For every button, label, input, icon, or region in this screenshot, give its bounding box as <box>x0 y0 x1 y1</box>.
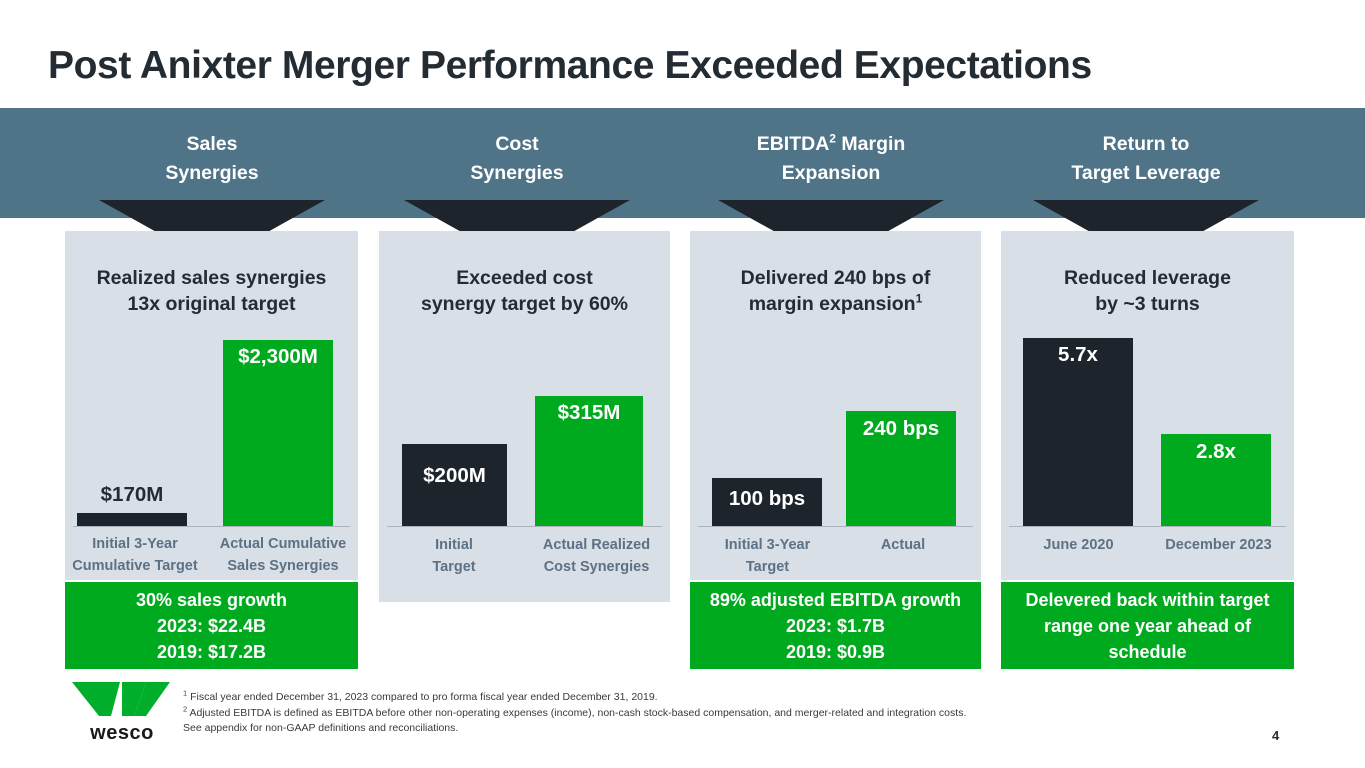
footnote-2: 2 Adjusted EBITDA is defined as EBITDA b… <box>183 706 1083 722</box>
band-col-2-line1: Cost <box>402 130 632 159</box>
footnote-1-text: Fiscal year ended December 31, 2023 comp… <box>187 691 657 703</box>
chart-3-bar-value-1: 100 bps <box>712 487 822 511</box>
callout-sales-growth: 30% sales growth 2023: $22.4B 2019: $17.… <box>65 582 358 669</box>
band-column-return-to-target-leverage: Return to Target Leverage <box>1031 130 1261 188</box>
chart-2-bar-value-1: $200M <box>402 464 507 488</box>
band-col-1-line1: Sales <box>97 130 327 159</box>
chart-1-cat2-line1: Actual Cumulative <box>213 533 353 555</box>
chart-4-category-label-1: June 2020 <box>1011 534 1146 556</box>
footnote-2-text: Adjusted EBITDA is defined as EBITDA bef… <box>187 707 966 719</box>
chart-2-cat2-line1: Actual Realized <box>524 534 669 556</box>
chart-4-axis-line <box>1009 526 1286 527</box>
callout-4-line2: range one year ahead of <box>1009 613 1286 639</box>
panel-3-heading: Delivered 240 bps of margin expansion1 <box>690 265 981 317</box>
callout-1-line3: 2019: $17.2B <box>73 639 350 665</box>
chart-1-axis-line <box>73 526 350 527</box>
chart-3-category-label-1: Initial 3-Year Target <box>695 534 840 578</box>
chart-1-bar-value-2: $2,300M <box>223 345 333 369</box>
chart-2-cat1-line2: Target <box>384 556 524 578</box>
footnote-3: See appendix for non-GAAP definitions an… <box>183 721 1083 737</box>
chart-4-cat1-line1: June 2020 <box>1011 534 1146 556</box>
wesco-w-mark-icon <box>70 680 174 720</box>
callout-4-line3: schedule <box>1009 639 1286 665</box>
panel-1-heading-line2: 13x original target <box>65 291 358 317</box>
chart-1-cat1-line2: Cumulative Target <box>65 555 205 577</box>
band-col-2-line2: Synergies <box>402 159 632 188</box>
chart-2-category-label-2: Actual Realized Cost Synergies <box>524 534 669 578</box>
chart-3-cat1-line1: Initial 3-Year <box>695 534 840 556</box>
panel-return-to-target-leverage: Reduced leverage by ~3 turns 5.7x 2.8x J… <box>1001 231 1294 580</box>
callout-3-line2: 2023: $1.7B <box>698 613 973 639</box>
chart-3-cat1-line2: Target <box>695 556 840 578</box>
chart-sales-synergies: $170M $2,300M Initial 3-Year Cumulative … <box>65 331 358 581</box>
callout-1-line2: 2023: $22.4B <box>73 613 350 639</box>
band-column-cost-synergies: Cost Synergies <box>402 130 632 188</box>
band-col-3-line2: Expansion <box>716 159 946 188</box>
panel-3-heading-line1: Delivered 240 bps of <box>690 265 981 291</box>
band-col-3-word: EBITDA <box>757 133 830 155</box>
panel-1-heading: Realized sales synergies 13x original ta… <box>65 265 358 317</box>
callout-deleverage: Delevered back within target range one y… <box>1001 582 1294 669</box>
panel-1-heading-line1: Realized sales synergies <box>65 265 358 291</box>
chart-3-axis-line <box>698 526 973 527</box>
panel-4-heading-line1: Reduced leverage <box>1001 265 1294 291</box>
slide-root: Post Anixter Merger Performance Exceeded… <box>0 0 1365 768</box>
footnotes: 1 Fiscal year ended December 31, 2023 co… <box>183 690 1083 737</box>
wesco-logo: wesco <box>70 680 174 745</box>
panel-sales-synergies: Realized sales synergies 13x original ta… <box>65 231 358 580</box>
page-title: Post Anixter Merger Performance Exceeded… <box>48 44 1092 88</box>
chart-1-bar-value-1: $170M <box>77 483 187 507</box>
chart-2-bar-value-2: $315M <box>535 401 643 425</box>
panel-4-heading-line2: by ~3 turns <box>1001 291 1294 317</box>
callout-1-line1: 30% sales growth <box>73 587 350 613</box>
panel-ebitda-margin-expansion: Delivered 240 bps of margin expansion1 1… <box>690 231 981 580</box>
panel-2-heading-line2: synergy target by 60% <box>379 291 670 317</box>
chart-1-cat2-line2: Sales Synergies <box>213 555 353 577</box>
band-col-3-line1: EBITDA2 Margin <box>716 130 946 159</box>
chart-4-cat2-line1: December 2023 <box>1151 534 1286 556</box>
panel-2-heading-line1: Exceeded cost <box>379 265 670 291</box>
band-col-1-line2: Synergies <box>97 159 327 188</box>
panel-cost-synergies: Exceeded cost synergy target by 60% $200… <box>379 231 670 602</box>
chart-4-category-label-2: December 2023 <box>1151 534 1286 556</box>
chart-4-bar-value-1: 5.7x <box>1023 343 1133 367</box>
callout-3-line3: 2019: $0.9B <box>698 639 973 665</box>
band-col-4-line1: Return to <box>1031 130 1261 159</box>
panel-3-heading-superscript: 1 <box>916 292 923 306</box>
panel-3-heading-line2-text: margin expansion <box>749 293 916 315</box>
callout-4-line1: Delevered back within target <box>1009 587 1286 613</box>
band-column-sales-synergies: Sales Synergies <box>97 130 327 188</box>
chart-2-axis-line <box>387 526 662 527</box>
footnote-1: 1 Fiscal year ended December 31, 2023 co… <box>183 690 1083 706</box>
chart-cost-synergies: $200M $315M Initial Target Actual Realiz… <box>379 331 670 601</box>
band-col-3-superscript: 2 <box>829 132 836 146</box>
chart-2-category-label-1: Initial Target <box>384 534 524 578</box>
chart-1-category-label-1: Initial 3-Year Cumulative Target <box>65 533 205 577</box>
chart-2-cat1-line1: Initial <box>384 534 524 556</box>
chart-leverage: 5.7x 2.8x June 2020 December 2023 <box>1001 331 1294 581</box>
chart-1-cat1-line1: Initial 3-Year <box>65 533 205 555</box>
panel-3-heading-line2: margin expansion1 <box>690 291 981 317</box>
callout-3-line1: 89% adjusted EBITDA growth <box>698 587 973 613</box>
callout-ebitda-growth: 89% adjusted EBITDA growth 2023: $1.7B 2… <box>690 582 981 669</box>
page-number: 4 <box>1272 728 1279 743</box>
panel-2-heading: Exceeded cost synergy target by 60% <box>379 265 670 317</box>
band-column-ebitda-margin-expansion: EBITDA2 Margin Expansion <box>716 130 946 188</box>
chart-4-bar-value-2: 2.8x <box>1161 440 1271 464</box>
chart-1-category-label-2: Actual Cumulative Sales Synergies <box>213 533 353 577</box>
chart-3-category-label-2: Actual <box>838 534 968 556</box>
chart-3-cat2-line1: Actual <box>838 534 968 556</box>
panel-4-heading: Reduced leverage by ~3 turns <box>1001 265 1294 317</box>
band-col-4-line2: Target Leverage <box>1031 159 1261 188</box>
band-col-3-tail: Margin <box>836 133 905 155</box>
chart-3-bar-value-2: 240 bps <box>846 417 956 441</box>
chart-1-bar-initial-target <box>77 513 187 526</box>
chart-2-cat2-line2: Cost Synergies <box>524 556 669 578</box>
wesco-wordmark: wesco <box>70 722 174 745</box>
chart-margin-expansion: 100 bps 240 bps Initial 3-Year Target Ac… <box>690 331 981 581</box>
